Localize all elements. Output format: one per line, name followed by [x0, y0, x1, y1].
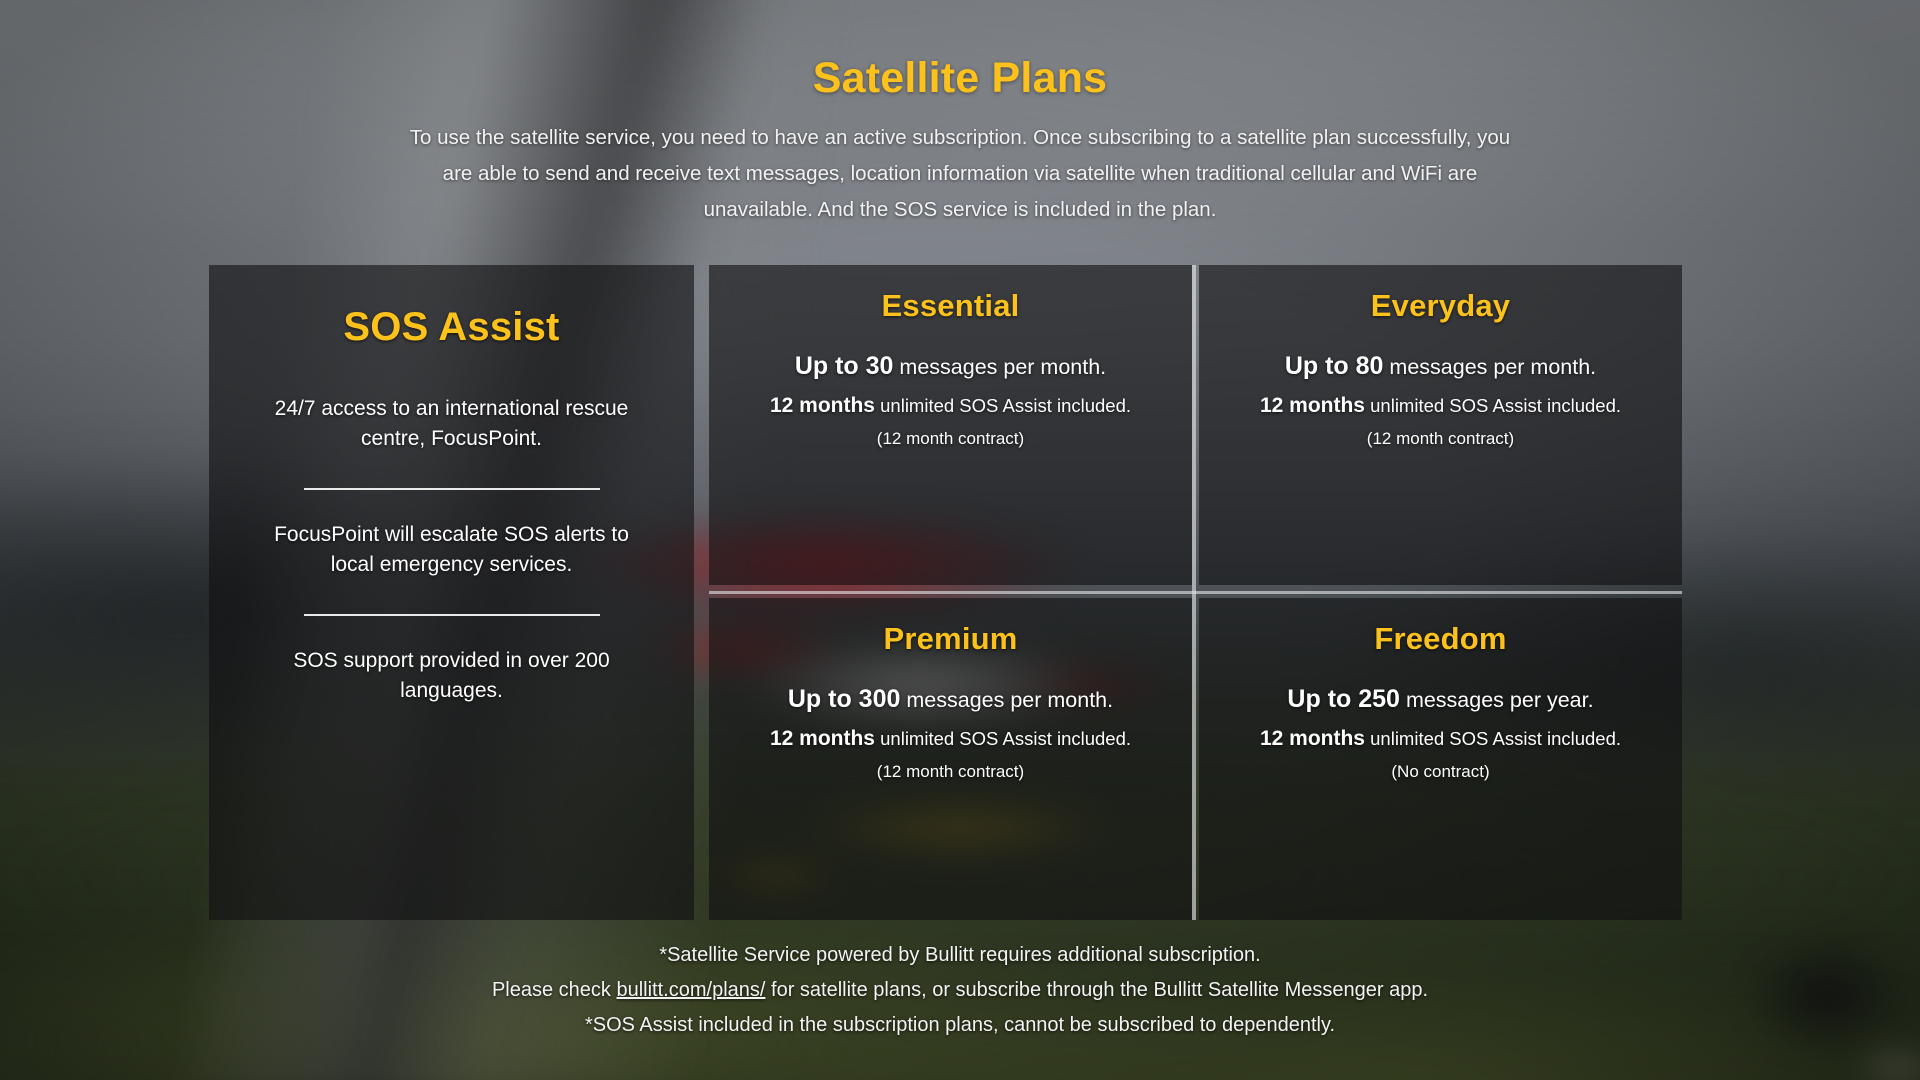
plan-contract-everyday: (12 month contract)	[1367, 429, 1514, 449]
plan-sos-duration: 12 months	[770, 727, 875, 750]
plan-allowance-value: Up to 300	[788, 685, 901, 713]
plan-title-premium: Premium	[883, 621, 1017, 657]
content-overlay: Satellite Plans To use the satellite ser…	[0, 0, 1920, 1080]
plan-allowance-everyday: Up to 80 messages per month.	[1285, 352, 1596, 381]
footer-line-2-suffix: for satellite plans, or subscribe throug…	[765, 979, 1428, 1001]
plans-grid-vertical-divider	[1192, 265, 1196, 920]
plan-contract-essential: (12 month contract)	[877, 429, 1024, 449]
plan-card-premium[interactable]: Premium Up to 300 messages per month. 12…	[709, 598, 1192, 920]
plan-title-freedom: Freedom	[1374, 621, 1506, 657]
plan-allowance-freedom: Up to 250 messages per year.	[1287, 685, 1593, 714]
plan-allowance-value: Up to 250	[1287, 685, 1400, 713]
plan-card-essential[interactable]: Essential Up to 30 messages per month. 1…	[709, 265, 1192, 585]
plans-grid: SOS Assist 24/7 access to an internation…	[209, 265, 1682, 920]
plan-sos-duration: 12 months	[1260, 394, 1365, 417]
plan-contract-premium: (12 month contract)	[877, 762, 1024, 782]
footer-line-2-prefix: Please check	[492, 979, 617, 1001]
footer-line-2: Please check bullitt.com/plans/ for sate…	[0, 973, 1920, 1008]
plan-sos-text: unlimited SOS Assist included.	[1370, 395, 1621, 416]
plan-sos-text: unlimited SOS Assist included.	[880, 395, 1131, 416]
sos-assist-benefit-3: SOS support provided in over 200 languag…	[267, 646, 637, 706]
plan-sos-everyday: 12 months unlimited SOS Assist included.	[1260, 394, 1621, 418]
sos-assist-title: SOS Assist	[343, 305, 559, 350]
plan-allowance-unit: messages per month.	[1389, 355, 1596, 379]
footer-notes: *Satellite Service powered by Bullitt re…	[0, 938, 1920, 1043]
plan-title-essential: Essential	[882, 288, 1020, 324]
satellite-plans-screen: Satellite Plans To use the satellite ser…	[0, 0, 1920, 1080]
plan-sos-duration: 12 months	[770, 394, 875, 417]
plan-allowance-unit: messages per month.	[899, 355, 1106, 379]
sos-assist-divider-2	[304, 614, 600, 616]
page-intro-paragraph: To use the satellite service, you need t…	[400, 120, 1520, 228]
plan-card-freedom[interactable]: Freedom Up to 250 messages per year. 12 …	[1199, 598, 1682, 920]
plan-allowance-value: Up to 80	[1285, 352, 1384, 380]
footer-line-1: *Satellite Service powered by Bullitt re…	[0, 938, 1920, 973]
plan-allowance-unit: messages per year.	[1406, 688, 1594, 712]
plan-sos-essential: 12 months unlimited SOS Assist included.	[770, 394, 1131, 418]
plan-allowance-unit: messages per month.	[906, 688, 1113, 712]
page-title: Satellite Plans	[0, 54, 1920, 103]
footer-line-3: *SOS Assist included in the subscription…	[0, 1008, 1920, 1043]
plan-title-everyday: Everyday	[1371, 288, 1510, 324]
sos-assist-divider-1	[304, 488, 600, 490]
plan-contract-freedom: (No contract)	[1391, 762, 1489, 782]
plan-allowance-premium: Up to 300 messages per month.	[788, 685, 1113, 714]
plan-sos-duration: 12 months	[1260, 727, 1365, 750]
plan-allowance-essential: Up to 30 messages per month.	[795, 352, 1106, 381]
plan-sos-freedom: 12 months unlimited SOS Assist included.	[1260, 727, 1621, 751]
plan-card-everyday[interactable]: Everyday Up to 80 messages per month. 12…	[1199, 265, 1682, 585]
sos-assist-benefit-2: FocusPoint will escalate SOS alerts to l…	[267, 520, 637, 580]
plan-allowance-value: Up to 30	[795, 352, 894, 380]
plan-card-sos-assist[interactable]: SOS Assist 24/7 access to an internation…	[209, 265, 694, 920]
bullitt-plans-link[interactable]: bullitt.com/plans/	[616, 979, 765, 1001]
plan-sos-text: unlimited SOS Assist included.	[880, 728, 1131, 749]
plan-sos-premium: 12 months unlimited SOS Assist included.	[770, 727, 1131, 751]
plan-sos-text: unlimited SOS Assist included.	[1370, 728, 1621, 749]
sos-assist-benefit-1: 24/7 access to an international rescue c…	[267, 394, 637, 454]
